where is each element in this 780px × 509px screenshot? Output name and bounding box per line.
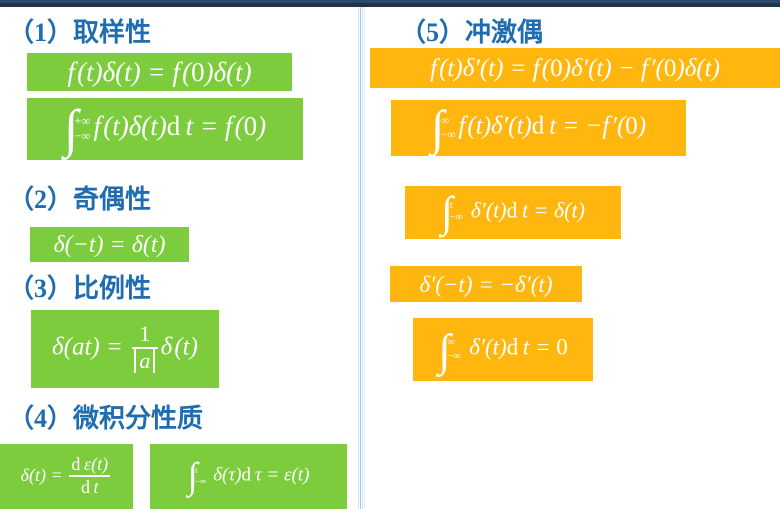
formula-box-scaling-eq-1: δ(at) = 1aδ (t) bbox=[31, 310, 219, 388]
heading-scaling-property: （3）比例性 bbox=[8, 268, 151, 305]
column-divider-line-3 bbox=[362, 7, 363, 509]
column-divider-line-1 bbox=[358, 7, 359, 509]
formula-sampling-eq-1: f (t)δ(t) = f (0)δ(t) bbox=[67, 59, 251, 86]
heading-calculus-property: （4）微积分性质 bbox=[8, 398, 203, 435]
formula-calculus-eq-2: ∫t−∞ δ(τ)d τ = ε(t) bbox=[188, 463, 310, 490]
top-decorative-bar-highlight bbox=[0, 0, 780, 3]
formula-doublet-eq-1: f (t)δ′(t) = f (0)δ′(t) − f ′(0)δ(t) bbox=[430, 56, 720, 81]
formula-box-doublet-eq-3: ∫t−∞ δ′(t)d t = δ(t) bbox=[405, 186, 621, 239]
heading-doublet-property: （5）冲激偶 bbox=[400, 12, 543, 49]
top-decorative-bar bbox=[0, 0, 780, 7]
slide-canvas: （1）取样性 f (t)δ(t) = f (0)δ(t) ∫+∞−∞f (t)δ… bbox=[0, 0, 780, 509]
heading-sampling-property: （1）取样性 bbox=[8, 12, 151, 49]
formula-box-parity-eq-1: δ(−t) = δ(t) bbox=[30, 227, 189, 262]
formula-parity-eq-1: δ(−t) = δ(t) bbox=[53, 233, 165, 257]
formula-box-sampling-eq-1: f (t)δ(t) = f (0)δ(t) bbox=[27, 53, 292, 91]
formula-box-doublet-eq-1: f (t)δ′(t) = f (0)δ′(t) − f ′(0)δ(t) bbox=[370, 48, 780, 88]
formula-box-calculus-eq-1: δ(t) = d ε(t)d t bbox=[0, 444, 133, 509]
formula-box-doublet-eq-5: ∫∞−∞ δ′(t)d t = 0 bbox=[413, 318, 593, 381]
formula-sampling-eq-2: ∫+∞−∞f (t)δ(t)d t = f (0) bbox=[64, 110, 266, 148]
formula-box-doublet-eq-2: ∫∞−∞f (t)δ′(t)d t = −f ′(0) bbox=[391, 100, 686, 156]
formula-box-doublet-eq-4: δ′(−t) = −δ′(t) bbox=[390, 266, 582, 302]
formula-doublet-eq-5: ∫∞−∞ δ′(t)d t = 0 bbox=[438, 333, 568, 365]
formula-doublet-eq-2: ∫∞−∞f (t)δ′(t)d t = −f ′(0) bbox=[431, 110, 646, 145]
heading-parity-property: （2）奇偶性 bbox=[8, 179, 151, 216]
formula-box-calculus-eq-2: ∫t−∞ δ(τ)d τ = ε(t) bbox=[150, 444, 347, 509]
column-divider-line-4 bbox=[364, 7, 365, 509]
column-divider-line-2 bbox=[360, 7, 361, 509]
formula-doublet-eq-4: δ′(−t) = −δ′(t) bbox=[420, 273, 553, 296]
formula-scaling-eq-1: δ(at) = 1aδ (t) bbox=[52, 324, 198, 374]
formula-doublet-eq-3: ∫t−∞ δ′(t)d t = δ(t) bbox=[441, 197, 585, 228]
formula-calculus-eq-1: δ(t) = d ε(t)d t bbox=[21, 456, 113, 497]
formula-box-sampling-eq-2: ∫+∞−∞f (t)δ(t)d t = f (0) bbox=[27, 98, 303, 160]
